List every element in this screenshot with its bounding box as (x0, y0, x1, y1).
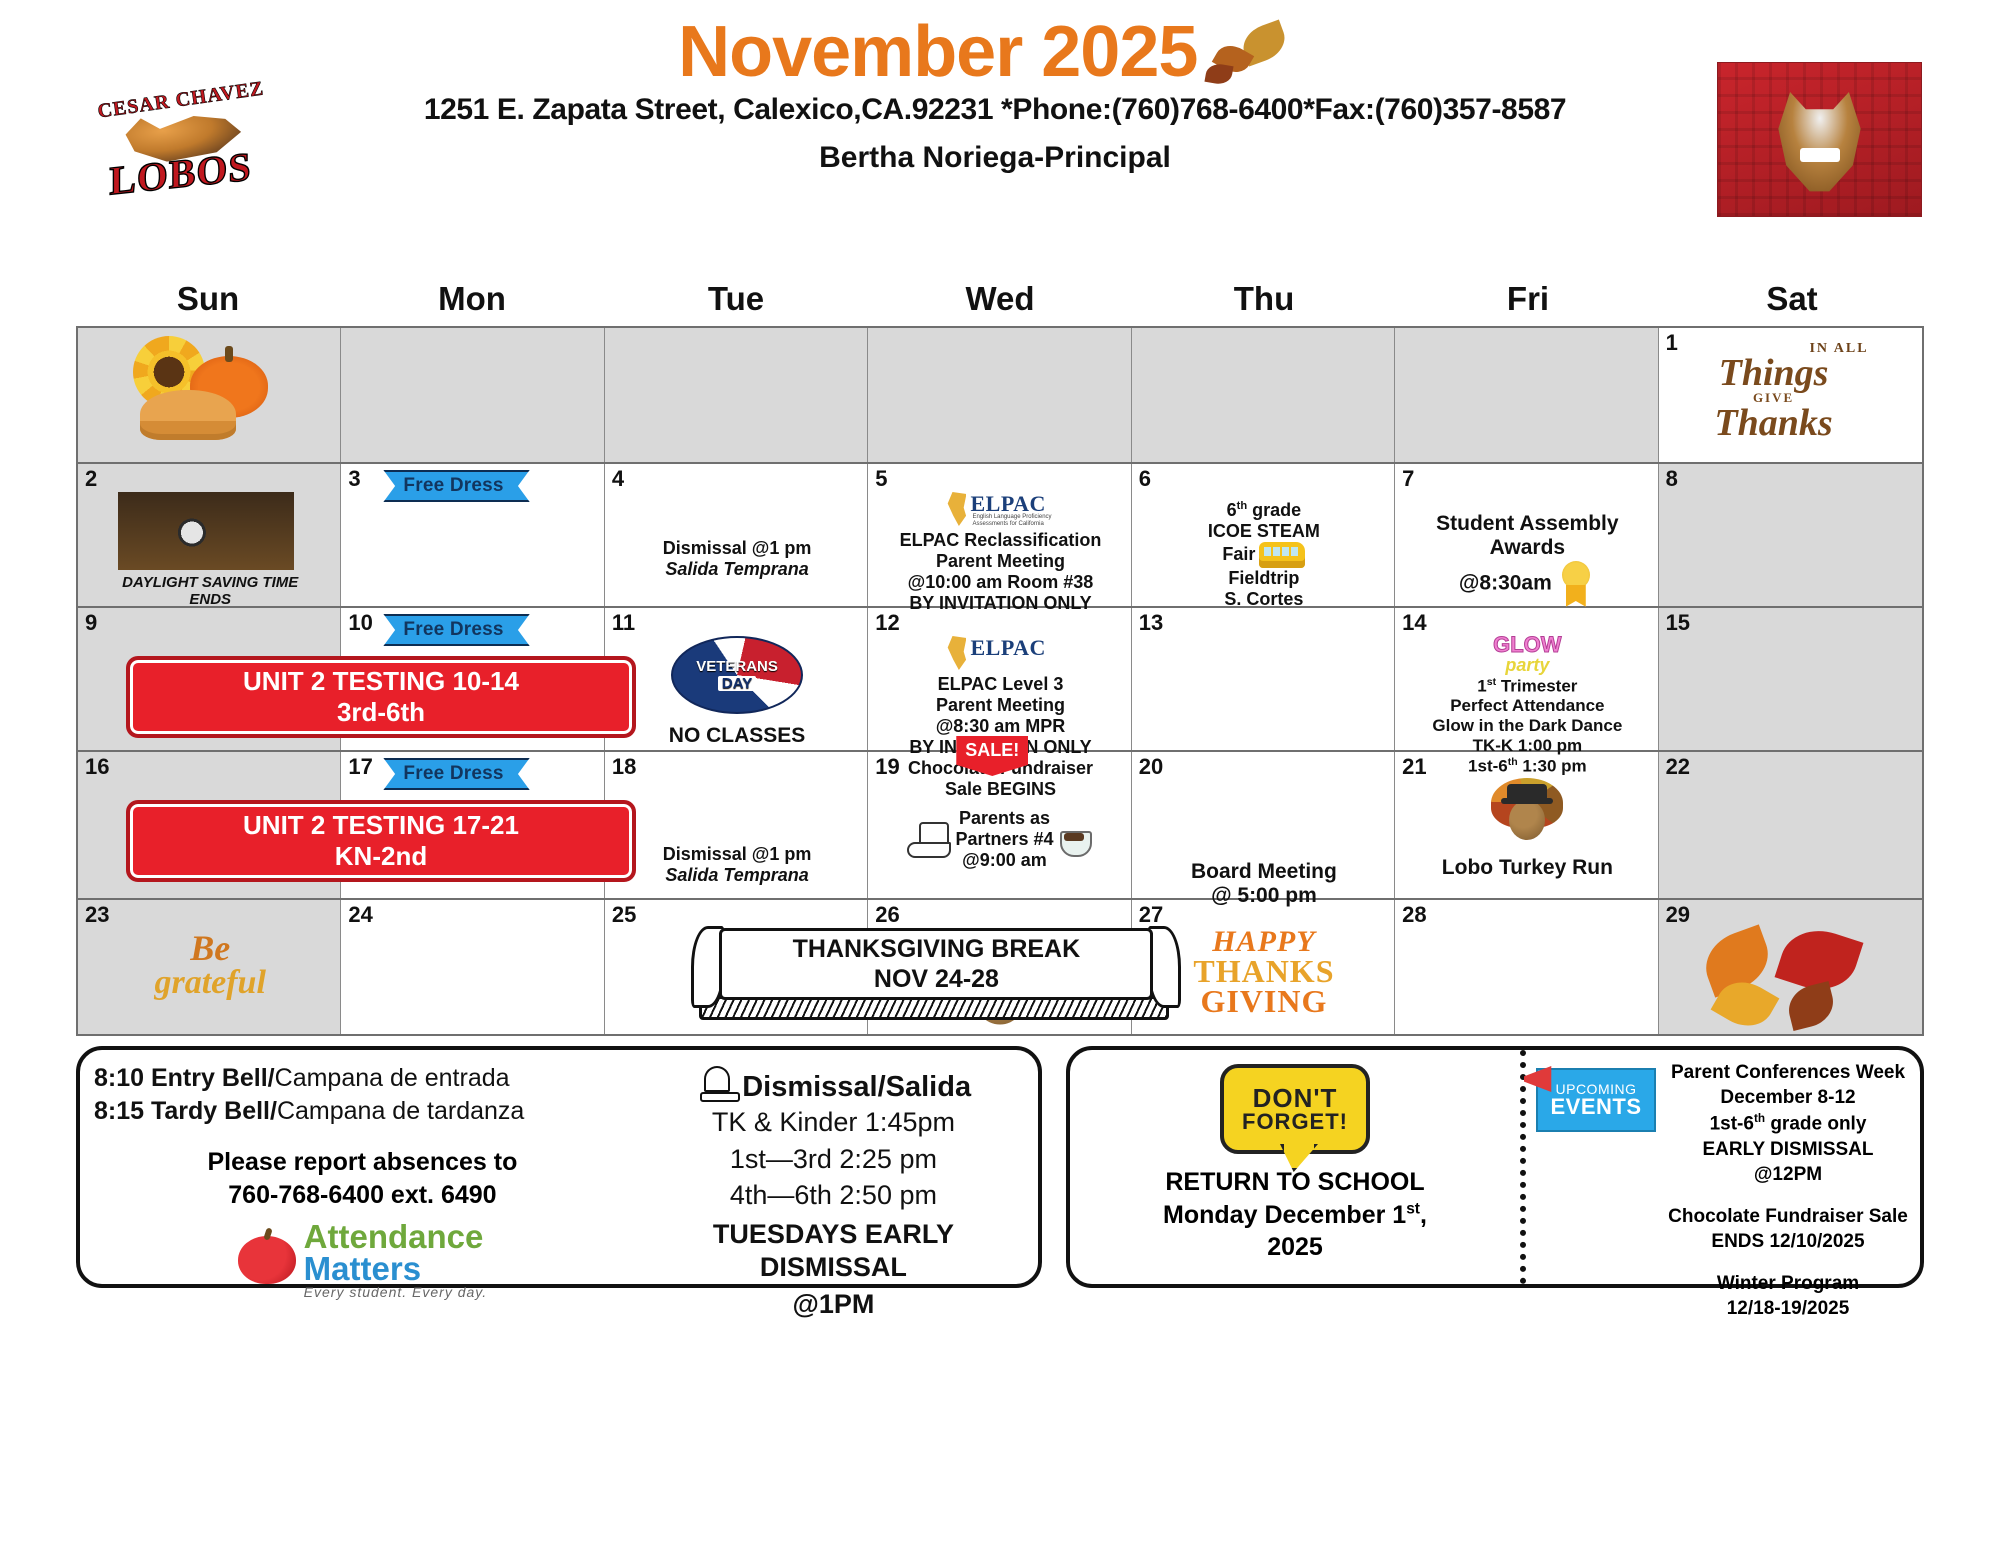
day-cell-12[interactable]: 12 ELPAC ELPAC Level 3 Parent Meeting @8… (868, 608, 1131, 750)
badge-line-2: DAY (718, 676, 756, 691)
event-line: Dismissal @1 pm (612, 844, 862, 865)
absence-line-1: Please report absences to (94, 1146, 631, 1179)
weekday-tue: Tue (604, 280, 868, 326)
return-line-2: Monday December 1st, (1070, 1199, 1520, 1232)
dismissal-column: Dismissal/Salida TK & Kinder 1:45pm 1st—… (639, 1050, 1038, 1284)
day-cell-empty[interactable] (78, 328, 341, 462)
school-logo: CESAR CHAVEZ LOBOS (78, 78, 283, 208)
absence-instructions: Please report absences to 760-768-6400 e… (94, 1146, 631, 1211)
day-number: 16 (85, 756, 335, 778)
entry-bell-bold: 8:10 Entry Bell/ (94, 1064, 275, 1092)
unit-2-testing-banner: UNIT 2 TESTING 10-14 3rd-6th (126, 656, 636, 738)
event-line: Glow in the Dark Dance (1402, 716, 1652, 736)
day-number: 13 (1139, 612, 1389, 634)
day-cell-11[interactable]: 11 VETERANS DAY NO CLASSES (605, 608, 868, 750)
footer-section: 8:10 Entry Bell/Campana de entrada 8:15 … (76, 1046, 1924, 1288)
header-center: November 2025 1251 E. Zapata Street, Cal… (290, 16, 1700, 175)
school-address: 1251 E. Zapata Street, Calexico,CA.92231… (290, 93, 1700, 127)
attendance-word-1: Attendance (304, 1221, 487, 1253)
ue-line-6: ENDS 12/10/2025 (1666, 1229, 1910, 1254)
event-line: 6th grade (1139, 500, 1389, 521)
day-cell-28[interactable]: 28 (1395, 900, 1658, 1034)
autumn-leaf-icon (1202, 24, 1312, 86)
banner-line-1: THANKSGIVING BREAK (793, 934, 1081, 965)
day-cell-empty[interactable] (1132, 328, 1395, 462)
day-cell-3[interactable]: 3 Free Dress (341, 464, 604, 606)
day-number: 2 (85, 468, 335, 490)
event-line: Partners #4 (955, 829, 1053, 850)
day-cell-24[interactable]: 24 THANKSGIVING BREAK NOV 24-28 (341, 900, 604, 1034)
day-cell-5[interactable]: 5 ELPAC English Language Proficiency Ass… (868, 464, 1131, 606)
day-number: 29 (1666, 904, 1917, 926)
absence-line-2: 760-768-6400 ext. 6490 (94, 1179, 631, 1212)
day-cell-19[interactable]: SALE! 19 Chocolate Fundraiser Sale BEGIN… (868, 752, 1131, 898)
day-number: 12 (875, 612, 1125, 634)
calendar-page: CESAR CHAVEZ LOBOS November 2025 1251 E.… (0, 0, 2000, 1545)
day-cell-13[interactable]: 13 (1132, 608, 1395, 750)
veterans-day-badge-icon: VETERANS DAY (671, 636, 803, 714)
day-cell-empty[interactable] (341, 328, 604, 462)
event-line: Salida Temprana (612, 559, 862, 580)
day-cell-2[interactable]: 2 DAYLIGHT SAVING TIME ENDS (78, 464, 341, 606)
calendar-week-2: 2 DAYLIGHT SAVING TIME ENDS 3 Free Dress… (78, 464, 1922, 608)
entry-bell-light: Campana de entrada (275, 1064, 510, 1092)
award-ribbon-icon (1556, 561, 1596, 607)
turkey-pilgrim-icon (1485, 778, 1569, 852)
banner-line-2: KN-2nd (335, 841, 427, 872)
school-bus-icon (1259, 542, 1305, 568)
event-line: Parents as (955, 808, 1053, 829)
ue-line-5: Chocolate Fundraiser Sale (1666, 1204, 1910, 1229)
badge-line-1: VETERANS (696, 659, 778, 674)
day-number: 11 (612, 612, 862, 634)
event-line: Fieldtrip (1139, 568, 1389, 589)
art-line-2: grateful (120, 966, 300, 1000)
day-cell-4[interactable]: 4 Dismissal @1 pm Salida Temprana (605, 464, 868, 606)
day-number: 9 (85, 612, 335, 634)
event-line: ELPAC Level 3 (875, 674, 1125, 695)
banner-line-1: UNIT 2 TESTING 10-14 (243, 666, 519, 697)
day-cell-22[interactable]: 22 (1659, 752, 1922, 898)
badge-line-2: EVENTS (1550, 1096, 1641, 1118)
ue-line-2: December 8-12 (1666, 1085, 1910, 1110)
mascot-image (1717, 62, 1922, 217)
day-number: 1 (1666, 332, 1917, 354)
banner-line-1: UNIT 2 TESTING 17-21 (243, 810, 519, 841)
dont-forget-line-2: FORGET! (1242, 1111, 1348, 1133)
elpac-logo-icon: ELPAC English Language Proficiency Asses… (940, 490, 1060, 528)
banner-line-2: NOV 24-28 (874, 964, 999, 995)
return-line-3: 2025 (1070, 1231, 1520, 1264)
unit-2-testing-banner: UNIT 2 TESTING 17-21 KN-2nd (126, 800, 636, 882)
bell-schedule-box: 8:10 Entry Bell/Campana de entrada 8:15 … (76, 1046, 1042, 1288)
day-cell-empty[interactable] (1395, 328, 1658, 462)
glow-line-2: party (1477, 656, 1577, 674)
day-cell-empty[interactable] (868, 328, 1131, 462)
glow-party-art: GLOW party (1477, 634, 1577, 674)
coffee-cup-icon (1058, 823, 1094, 855)
day-number: 5 (875, 468, 1125, 490)
weekday-wed: Wed (868, 280, 1132, 326)
calendar-week-3: 9 UNIT 2 TESTING 10-14 3rd-6th 10 Free D… (78, 608, 1922, 752)
attendance-matters-logo: Attendance Matters Every student. Every … (94, 1221, 631, 1299)
weekday-header-row: Sun Mon Tue Wed Thu Fri Sat (76, 280, 1924, 326)
hand-note-icon (907, 822, 951, 856)
calendar-week-5: 23 Be grateful 24 THANKSGIVING BREAK NOV… (78, 900, 1922, 1036)
weekday-fri: Fri (1396, 280, 1660, 326)
upcoming-events-column: UPCOMING EVENTS Parent Conferences Week … (1520, 1050, 1920, 1284)
event-line: S. Cortes (1139, 589, 1389, 610)
weekday-thu: Thu (1132, 280, 1396, 326)
art-line-3: GIVE (1753, 392, 1794, 405)
day-number: 14 (1402, 612, 1652, 634)
day-number: 4 (612, 468, 862, 490)
apple-icon (238, 1236, 296, 1284)
day-cell-20[interactable]: 20 Board Meeting @ 5:00 pm (1132, 752, 1395, 898)
art-line-2: THANKS (1169, 956, 1359, 986)
day-cell-18[interactable]: 18 Dismissal @1 pm Salida Temprana (605, 752, 868, 898)
sunflower-icon (133, 336, 205, 408)
event-line: ELPAC Reclassification (875, 530, 1125, 551)
day-cell-21[interactable]: 21 Lobo Turkey Run (1395, 752, 1658, 898)
tardy-bell-line: 8:15 Tardy Bell/Campana de tardanza (94, 1095, 631, 1128)
day-cell-16[interactable]: 16 UNIT 2 TESTING 17-21 KN-2nd (78, 752, 341, 898)
art-line-4: Thanks (1714, 405, 1832, 442)
dont-forget-line-1: DON'T (1253, 1085, 1338, 1111)
dont-forget-badge: DON'T FORGET! (1220, 1064, 1370, 1154)
entry-bell-line: 8:10 Entry Bell/Campana de entrada (94, 1062, 631, 1095)
dismissal-line-3: 4th—6th 2:50 pm (639, 1177, 1028, 1214)
dismissal-line-1: TK & Kinder 1:45pm (639, 1104, 1028, 1141)
event-line: @10:00 am Room #38 (875, 572, 1125, 593)
day-cell-23[interactable]: 23 Be grateful (78, 900, 341, 1034)
pumpkin-icon (190, 356, 268, 418)
reminders-box: DON'T FORGET! RETURN TO SCHOOL Monday De… (1066, 1046, 1924, 1288)
bell-and-absence-column: 8:10 Entry Bell/Campana de entrada 8:15 … (80, 1050, 639, 1284)
dismissal-line-2: 1st—3rd 2:25 pm (639, 1141, 1028, 1178)
day-number: 7 (1402, 468, 1652, 490)
day-cell-empty[interactable] (605, 328, 868, 462)
give-thanks-art: IN ALL Things GIVE Thanks (1679, 338, 1869, 446)
elpac-logo-subtext: English Language Proficiency Assessments… (972, 514, 1060, 527)
autumn-leaves-art (1696, 928, 1886, 1036)
mascot-wolf-icon (1771, 86, 1869, 194)
day-cell-15[interactable]: 15 (1659, 608, 1922, 750)
logo-lobos-text: LOBOS (109, 142, 251, 204)
event-line: DAYLIGHT SAVING TIME (85, 574, 335, 591)
day-cell-1[interactable]: 1 IN ALL Things GIVE Thanks (1659, 328, 1922, 462)
event-line: Parent Meeting (875, 551, 1125, 572)
event-line: NO CLASSES (612, 724, 862, 748)
event-line: 1st Trimester (1402, 676, 1652, 696)
event-line: Fair (1139, 542, 1389, 568)
elpac-logo-text: ELPAC (970, 635, 1045, 661)
ue-line-3: 1st-6th grade only (1666, 1111, 1910, 1137)
day-cell-8[interactable]: 8 (1659, 464, 1922, 606)
tardy-bell-bold: 8:15 Tardy Bell/ (94, 1097, 277, 1125)
event-line: ICOE STEAM (1139, 521, 1389, 542)
return-to-school-text: RETURN TO SCHOOL Monday December 1st, 20… (1070, 1166, 1520, 1264)
free-dress-ribbon: Free Dress (383, 614, 529, 646)
event-line: Salida Temprana (612, 865, 862, 886)
page-title: November 2025 (678, 16, 1197, 89)
event-line: Parent Meeting (875, 695, 1125, 716)
bell-icon (696, 1060, 738, 1104)
upcoming-events-text: Parent Conferences Week December 8-12 1s… (1666, 1060, 1910, 1321)
day-cell-9[interactable]: 9 UNIT 2 TESTING 10-14 3rd-6th (78, 608, 341, 750)
be-grateful-art: Be grateful (120, 930, 300, 1026)
event-line: @9:00 am (955, 850, 1053, 871)
event-line: ENDS (85, 591, 335, 608)
pie-icon (140, 390, 236, 440)
ue-line-4: EARLY DISMISSAL @12PM (1666, 1137, 1910, 1188)
weekday-mon: Mon (340, 280, 604, 326)
logo-banner-text: CESAR CHAVEZ (96, 77, 265, 123)
event-line: Student Assembly (1402, 512, 1652, 536)
free-dress-ribbon: Free Dress (383, 758, 529, 790)
happy-thanksgiving-art: HAPPY THANKS GIVING (1169, 928, 1359, 1016)
event-text: Fair (1222, 544, 1255, 564)
event-line: Dismissal @1 pm (612, 538, 862, 559)
page-header: CESAR CHAVEZ LOBOS November 2025 1251 E.… (0, 0, 2000, 280)
day-cell-7[interactable]: 7 Student Assembly Awards @8:30am (1395, 464, 1658, 606)
day-number: 6 (1139, 468, 1389, 490)
return-line-1: RETURN TO SCHOOL (1070, 1166, 1520, 1199)
day-number: 24 (348, 904, 598, 926)
day-number: 23 (85, 904, 335, 926)
day-number: 22 (1666, 756, 1917, 778)
day-cell-29[interactable]: 29 (1659, 900, 1922, 1034)
day-number: 18 (612, 756, 862, 778)
principal-name: Bertha Noriega-Principal (290, 141, 1700, 175)
day-number: 28 (1402, 904, 1652, 926)
art-line-1: Be (120, 930, 300, 966)
art-line-3: GIVING (1169, 986, 1359, 1016)
day-number: 21 (1402, 756, 1652, 778)
upcoming-events-badge: UPCOMING EVENTS (1536, 1068, 1656, 1132)
return-to-school-column: DON'T FORGET! RETURN TO SCHOOL Monday De… (1070, 1050, 1520, 1284)
event-line: Awards (1402, 536, 1652, 560)
elpac-logo-icon: ELPAC (940, 634, 1060, 672)
day-number: 20 (1139, 756, 1389, 778)
clock-image (118, 492, 294, 570)
ue-line-7: Winter Program (1666, 1271, 1910, 1296)
glow-line-1: GLOW (1477, 634, 1577, 656)
attendance-tagline: Every student. Every day. (304, 1286, 487, 1300)
tuesday-dismissal-line-1: TUESDAYS EARLY DISMISSAL (639, 1218, 1028, 1284)
event-line: Perfect Attendance (1402, 696, 1652, 716)
ue-line-8: 12/18-19/2025 (1666, 1296, 1910, 1321)
event-text: @8:30am (1459, 571, 1552, 594)
weekday-sun: Sun (76, 280, 340, 326)
art-line-2: Things (1719, 355, 1829, 392)
event-line: Board Meeting (1139, 860, 1389, 884)
event-line: @8:30 am MPR (875, 716, 1125, 737)
dismissal-title: Dismissal/Salida (742, 1071, 971, 1103)
tuesday-dismissal-line-2: @1PM (639, 1288, 1028, 1321)
event-line: Lobo Turkey Run (1402, 856, 1652, 880)
calendar-week-1: 1 IN ALL Things GIVE Thanks (78, 328, 1922, 464)
free-dress-ribbon: Free Dress (383, 470, 529, 502)
day-number: 15 (1666, 612, 1917, 634)
art-line-1: HAPPY (1169, 928, 1359, 956)
calendar-grid: 1 IN ALL Things GIVE Thanks 2 DAYLIGHT S… (76, 326, 1924, 1036)
thanksgiving-break-banner: THANKSGIVING BREAK NOV 24-28 (691, 922, 1181, 1022)
tardy-bell-light: Campana de tardanza (277, 1097, 524, 1125)
ue-line-1: Parent Conferences Week (1666, 1060, 1910, 1085)
event-line: Sale BEGINS (875, 779, 1125, 800)
attendance-word-2: Matters (304, 1253, 487, 1285)
day-cell-6[interactable]: 6 6th grade ICOE STEAM Fair Fieldtrip S.… (1132, 464, 1395, 606)
day-cell-14[interactable]: 14 GLOW party 1st Trimester Perfect Atte… (1395, 608, 1658, 750)
event-line: @8:30am (1402, 561, 1652, 607)
banner-line-2: 3rd-6th (337, 697, 425, 728)
day-number: 8 (1666, 468, 1917, 490)
weekday-sat: Sat (1660, 280, 1924, 326)
calendar-week-4: 16 UNIT 2 TESTING 17-21 KN-2nd 17 Free D… (78, 752, 1922, 900)
